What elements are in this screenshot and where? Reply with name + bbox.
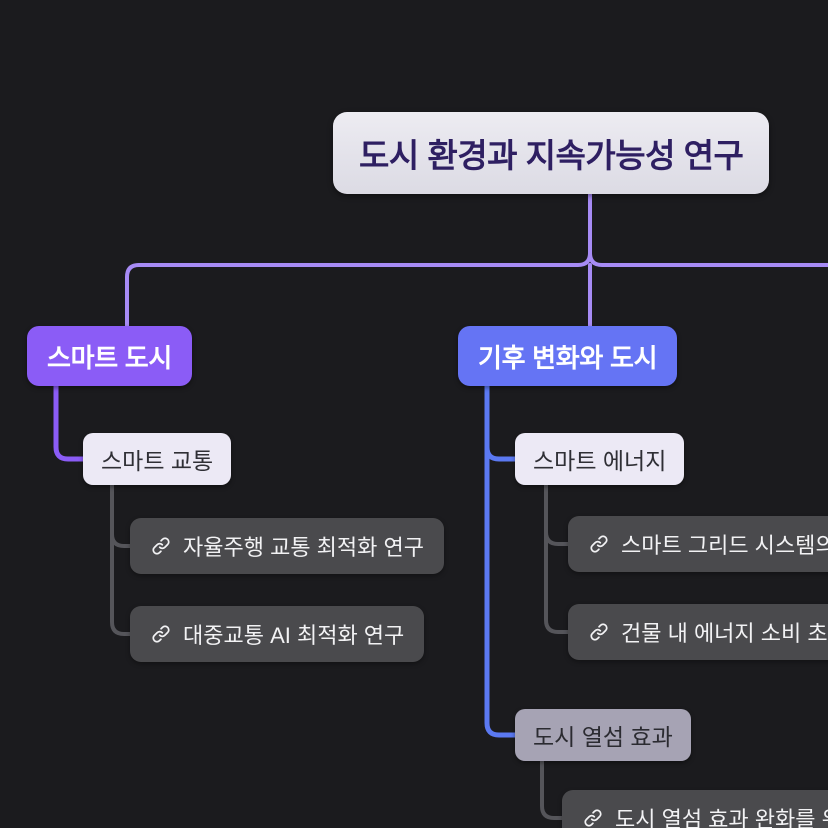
edge-energy-to-leaf-d xyxy=(546,485,568,632)
node-leaf-autonomous-traffic-label: 자율주행 교통 최적화 연구 xyxy=(183,530,424,562)
link-icon xyxy=(150,623,172,645)
edge-climate-to-heat xyxy=(487,386,515,735)
link-icon xyxy=(588,621,610,643)
node-leaf-building-energy[interactable]: 건물 내 에너지 소비 초 xyxy=(568,604,828,660)
node-leaf-autonomous-traffic[interactable]: 자율주행 교통 최적화 연구 xyxy=(130,518,444,574)
node-climate-change-city[interactable]: 기후 변화와 도시 xyxy=(458,326,677,386)
node-root[interactable]: 도시 환경과 지속가능성 연구 xyxy=(333,112,769,194)
edge-root-trunk-right xyxy=(590,194,828,265)
node-leaf-public-transit-ai[interactable]: 대중교통 AI 최적화 연구 xyxy=(130,606,424,662)
node-leaf-heat-island-mitigation-label: 도시 열섬 효과 완화를 위 xyxy=(615,802,828,828)
node-urban-heat-island-label: 도시 열섬 효과 xyxy=(533,718,673,752)
mindmap-canvas[interactable]: 도시 환경과 지속가능성 연구 스마트 도시 기후 변화와 도시 스마트 교통 … xyxy=(0,0,828,828)
node-smart-energy[interactable]: 스마트 에너지 xyxy=(515,433,684,485)
link-icon xyxy=(582,807,604,828)
node-climate-change-city-label: 기후 변화와 도시 xyxy=(478,338,657,375)
link-icon xyxy=(150,535,172,557)
node-smart-energy-label: 스마트 에너지 xyxy=(533,442,666,476)
link-icon xyxy=(588,533,610,555)
node-leaf-smart-grid-label: 스마트 그리드 시스템의 xyxy=(621,528,828,560)
node-smart-city[interactable]: 스마트 도시 xyxy=(27,326,192,386)
edge-climate-to-energy xyxy=(487,386,515,459)
node-leaf-smart-grid[interactable]: 스마트 그리드 시스템의 xyxy=(568,516,828,572)
edge-heat-to-leaf-e xyxy=(542,761,562,818)
edge-smartcity-to-transit xyxy=(56,386,83,459)
edge-transit-to-leaf-a xyxy=(112,485,130,546)
node-root-label: 도시 환경과 지속가능성 연구 xyxy=(359,129,743,177)
node-leaf-building-energy-label: 건물 내 에너지 소비 초 xyxy=(621,616,828,648)
node-smart-transit[interactable]: 스마트 교통 xyxy=(83,433,231,485)
edge-root-to-smartcity xyxy=(127,194,590,326)
edge-energy-to-leaf-c xyxy=(546,485,568,544)
node-leaf-public-transit-ai-label: 대중교통 AI 최적화 연구 xyxy=(183,618,404,650)
node-leaf-heat-island-mitigation[interactable]: 도시 열섬 효과 완화를 위 xyxy=(562,790,828,828)
edge-transit-to-leaf-b xyxy=(112,485,130,634)
node-smart-transit-label: 스마트 교통 xyxy=(101,442,213,476)
node-smart-city-label: 스마트 도시 xyxy=(47,338,172,375)
node-urban-heat-island[interactable]: 도시 열섬 효과 xyxy=(515,709,691,761)
